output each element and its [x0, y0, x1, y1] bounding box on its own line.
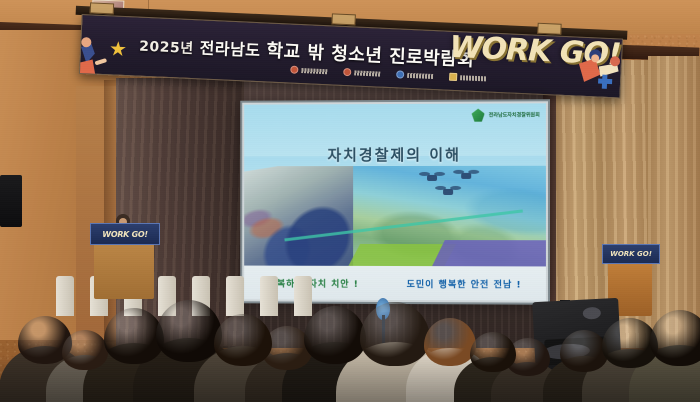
drone-icon-3 — [435, 186, 461, 196]
banner-clip-1 — [90, 2, 114, 14]
sponsor-logo-4-icon — [449, 73, 486, 83]
audience-person-head — [424, 318, 476, 366]
committee-mark-icon — [472, 109, 485, 122]
banner-region: 전라남도 — [199, 38, 261, 60]
drone-icon-1 — [419, 172, 445, 182]
police-officers-photo — [244, 166, 367, 271]
audience-person-head — [650, 310, 700, 366]
auditorium-scene-photo: ★ 2025년 전라남도 학교 밖 청소년 진로박람회 WORK GO! — [0, 0, 700, 402]
podium-right-sign-text: WORK GO! — [610, 250, 652, 258]
audience-person-head — [360, 302, 430, 366]
sponsor-logo-1-icon — [290, 66, 327, 76]
banner-year: 2025년 — [139, 39, 194, 57]
sponsor-logo-2-icon — [343, 68, 380, 78]
slide-image-collage — [244, 166, 546, 271]
wall-loudspeaker-left — [0, 175, 22, 227]
drone-icon-2 — [453, 170, 479, 180]
audience-person-head — [214, 314, 272, 366]
projection-screen: 전라남도자치경찰위원회 자치경찰제의 이해 행복하는 자치 치안 ! 도민이 행… — [240, 99, 550, 304]
audience-person-head — [62, 330, 108, 370]
presentation-slide: 전라남도자치경찰위원회 자치경찰제의 이해 행복하는 자치 치안 ! 도민이 행… — [244, 103, 546, 300]
audience-person-head — [104, 308, 164, 364]
podium-left-sign-text: WORK GO! — [102, 230, 147, 239]
podium-left-sign: WORK GO! — [90, 223, 160, 245]
audience-person-head — [304, 306, 366, 364]
slide-organization-logo: 전라남도자치경찰위원회 — [472, 108, 540, 121]
audience-person-head — [470, 332, 516, 372]
audience-person-head — [560, 330, 608, 372]
audience-person-head — [156, 300, 222, 362]
audience-crowd — [0, 282, 700, 402]
sponsor-logo-3-icon — [396, 70, 433, 80]
banner-clip-2 — [331, 13, 355, 25]
slide-org-name: 전라남도자치경찰위원회 — [489, 111, 540, 118]
slide-title: 자치경찰제의 이해 — [244, 144, 546, 166]
banner-clip-3 — [537, 23, 561, 35]
podium-right-sign: WORK GO! — [602, 244, 660, 264]
banner-character-right-icon — [571, 43, 623, 98]
